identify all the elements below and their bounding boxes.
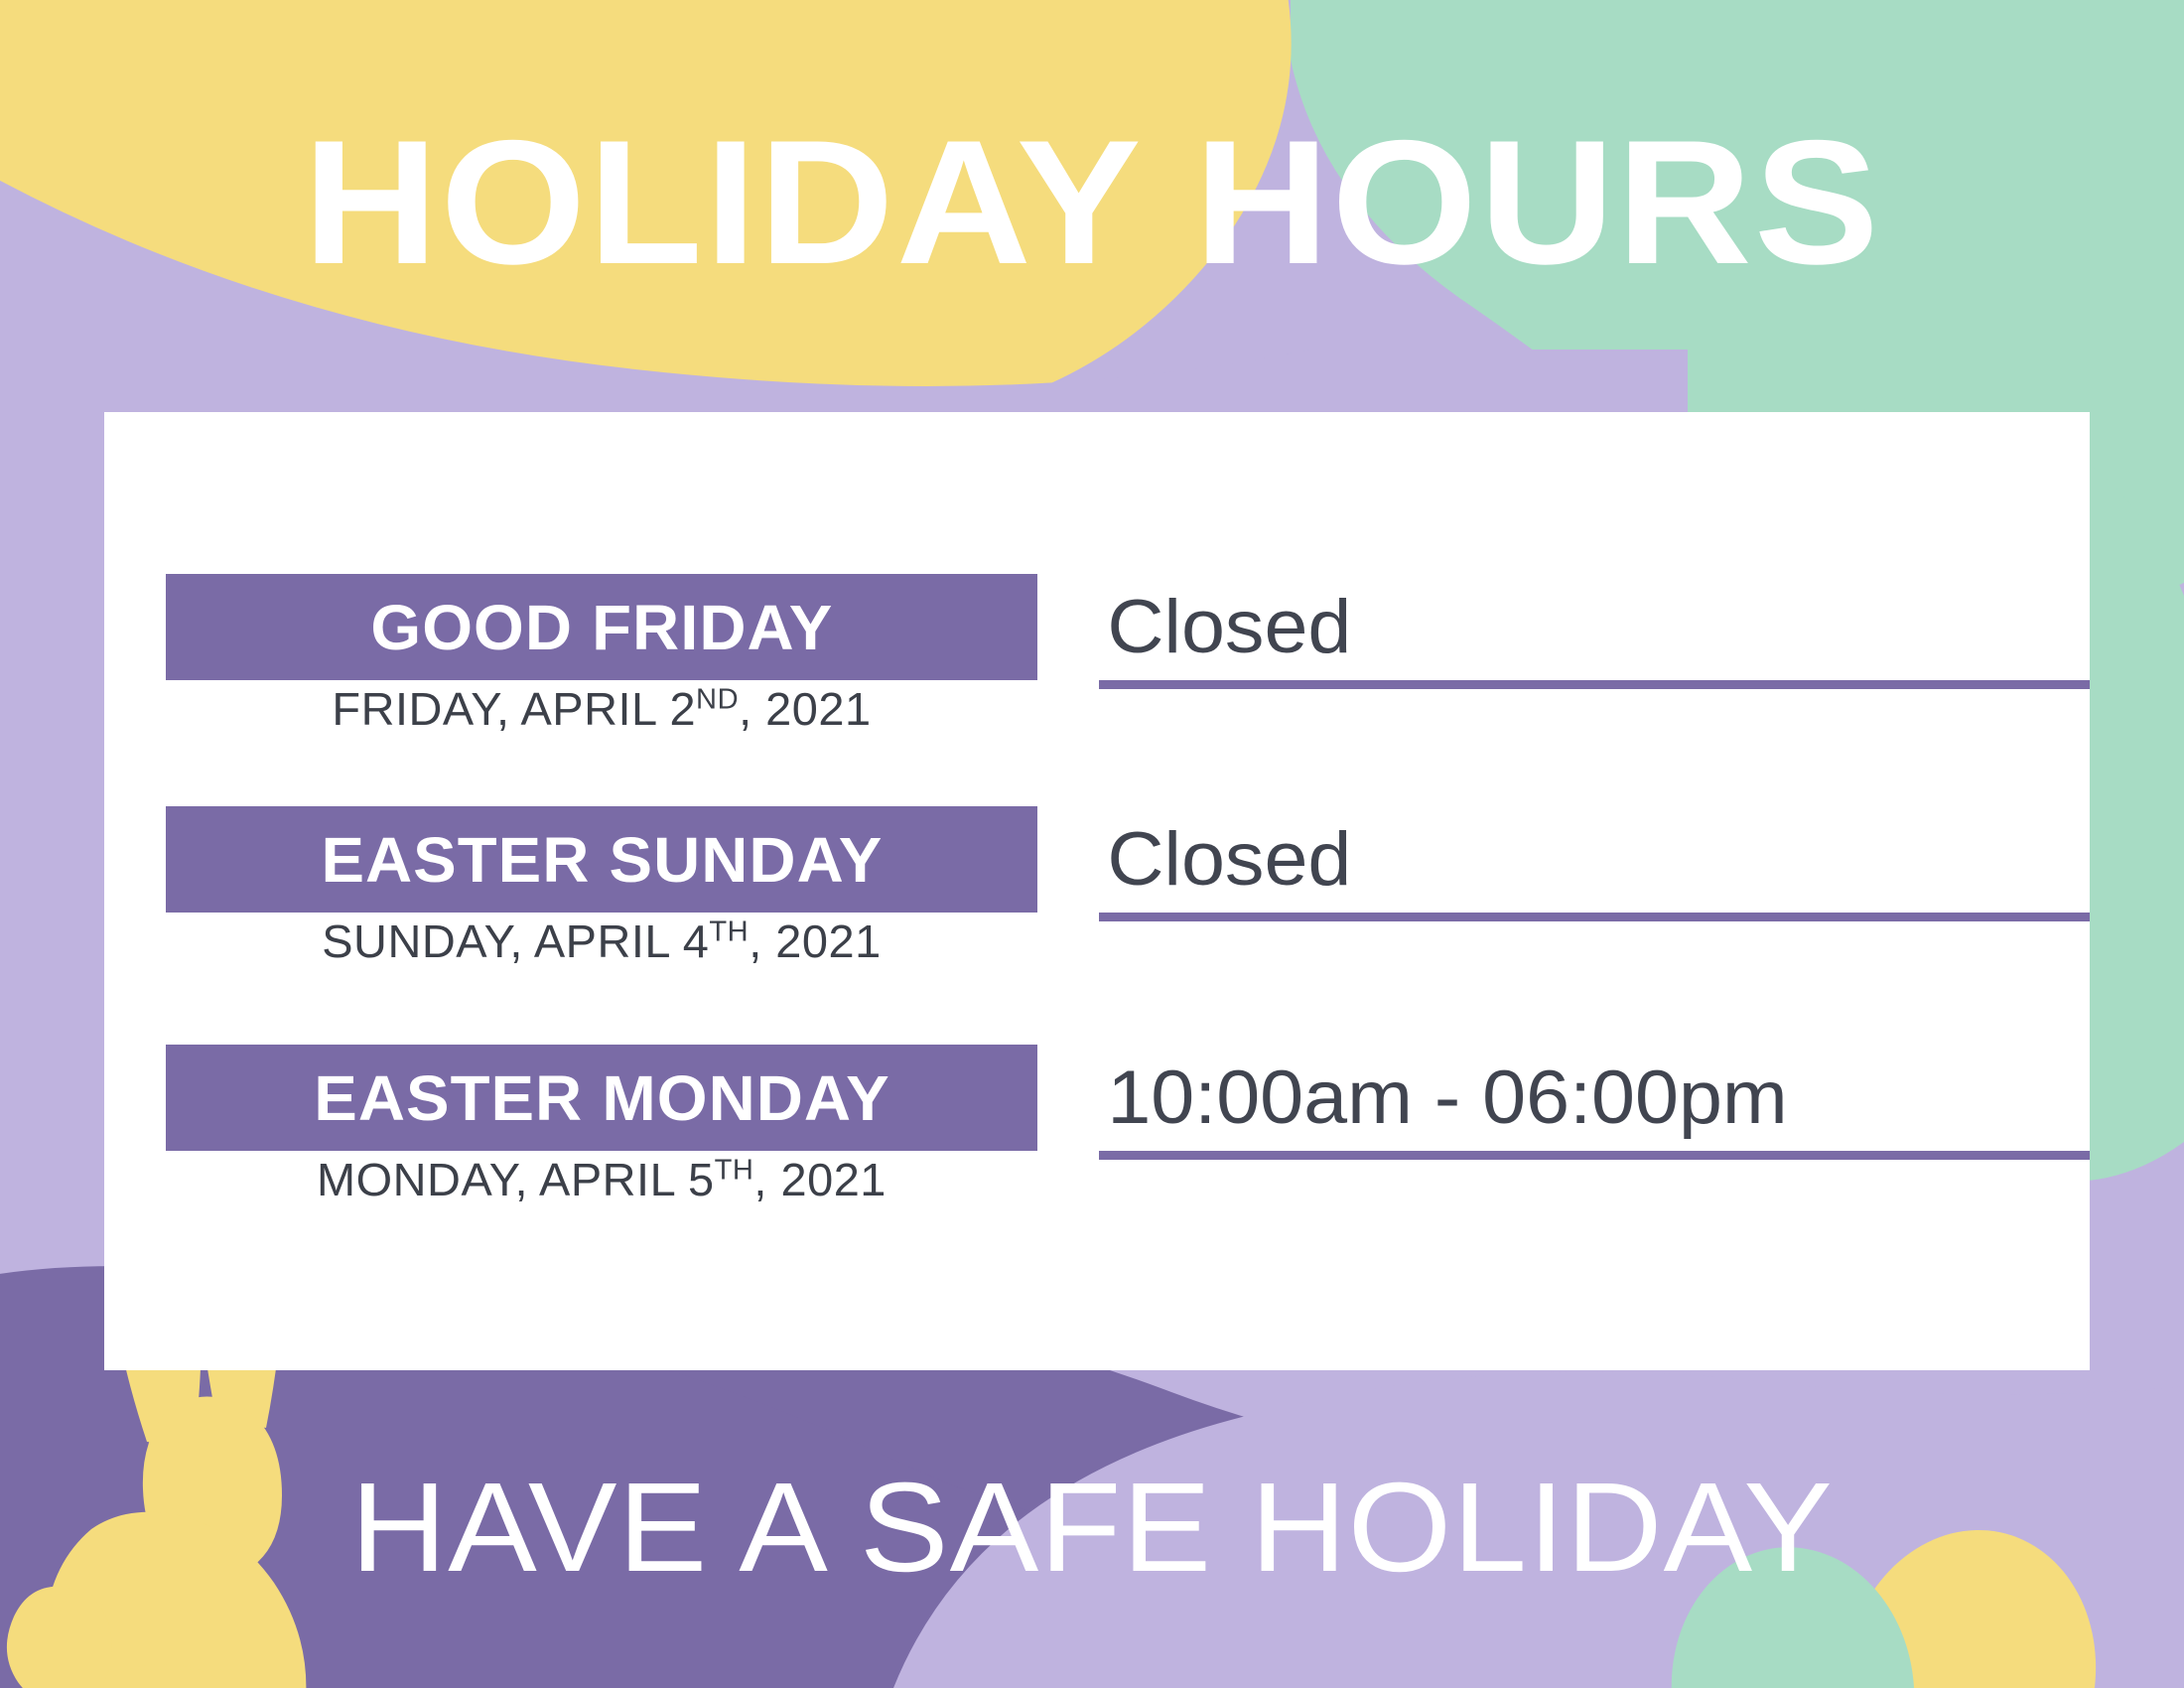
holiday-name: EASTER SUNDAY — [321, 828, 883, 892]
holiday-date-prefix: MONDAY, APRIL 5 — [317, 1154, 715, 1205]
holiday-date-ordinal: ND — [696, 684, 739, 716]
holiday-label-bar: EASTER MONDAY — [166, 1045, 1037, 1151]
page-title: HOLIDAY HOURS — [0, 114, 2184, 291]
holiday-name: GOOD FRIDAY — [370, 596, 833, 659]
schedule-row: GOOD FRIDAY Closed FRIDAY, APRIL 2ND, 20… — [166, 574, 2090, 680]
hours-card: GOOD FRIDAY Closed FRIDAY, APRIL 2ND, 20… — [104, 412, 2090, 1370]
holiday-hours-cell: Closed — [1099, 806, 2090, 921]
schedule-row: EASTER SUNDAY Closed SUNDAY, APRIL 4TH, … — [166, 806, 2090, 913]
schedule-row-top: EASTER SUNDAY Closed — [166, 806, 2090, 913]
holiday-hours-value: 10:00am - 06:00pm — [1099, 1059, 1788, 1137]
holiday-hours-cell: Closed — [1099, 574, 2090, 689]
holiday-date-prefix: FRIDAY, APRIL 2 — [332, 683, 696, 735]
schedule-row: EASTER MONDAY 10:00am - 06:00pm MONDAY, … — [166, 1045, 2090, 1151]
holiday-date: FRIDAY, APRIL 2ND, 2021 — [157, 685, 1046, 733]
holiday-hours-cell: 10:00am - 06:00pm — [1099, 1045, 2090, 1160]
holiday-name: EASTER MONDAY — [314, 1066, 889, 1130]
schedule-row-top: EASTER MONDAY 10:00am - 06:00pm — [166, 1045, 2090, 1151]
holiday-date-suffix: , 2021 — [739, 683, 872, 735]
holiday-date-ordinal: TH — [709, 916, 749, 948]
holiday-hours-poster: HOLIDAY HOURS GOOD FRIDAY Closed FRIDAY,… — [0, 0, 2184, 1688]
holiday-date-ordinal: TH — [715, 1155, 754, 1187]
footer-message: HAVE A SAFE HOLIDAY — [0, 1465, 2184, 1592]
holiday-date-prefix: SUNDAY, APRIL 4 — [322, 915, 709, 967]
holiday-date: SUNDAY, APRIL 4TH, 2021 — [157, 917, 1046, 965]
holiday-hours-value: Closed — [1099, 589, 1351, 666]
holiday-date: MONDAY, APRIL 5TH, 2021 — [157, 1156, 1046, 1203]
holiday-date-suffix: , 2021 — [753, 1154, 887, 1205]
holiday-label-bar: EASTER SUNDAY — [166, 806, 1037, 913]
schedule-row-top: GOOD FRIDAY Closed — [166, 574, 2090, 680]
holiday-date-suffix: , 2021 — [749, 915, 882, 967]
holiday-label-bar: GOOD FRIDAY — [166, 574, 1037, 680]
holiday-hours-value: Closed — [1099, 821, 1351, 899]
